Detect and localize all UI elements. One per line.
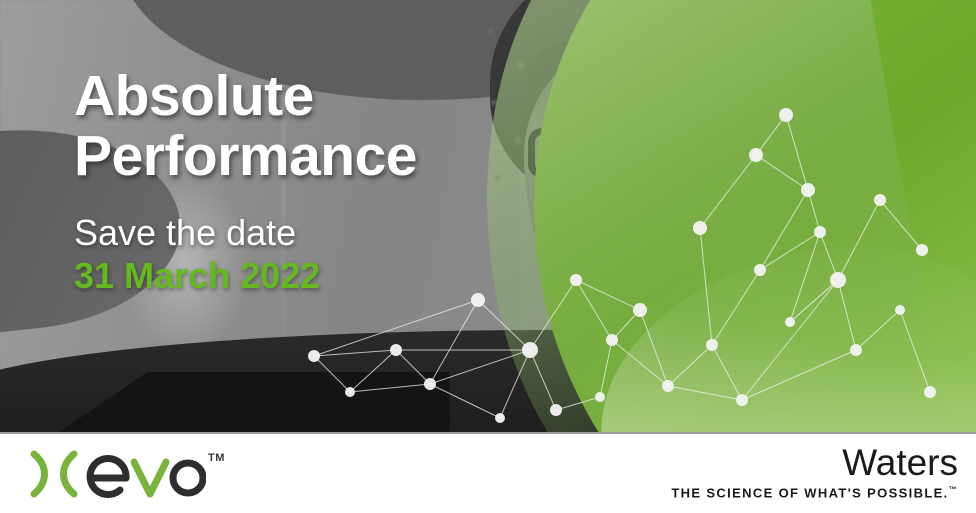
waters-tagline: THE SCIENCE OF WHAT'S POSSIBLE.™ [671, 485, 958, 500]
copy-block: Absolute Performance Save the date 31 Ma… [74, 66, 544, 296]
hero-image-area: Absolute Performance Save the date 31 Ma… [0, 0, 976, 432]
subheadline: Save the date [74, 213, 544, 253]
waters-trademark: ™ [949, 485, 958, 494]
event-date: 31 March 2022 [74, 256, 544, 296]
xevo-logo[interactable]: TM [28, 448, 225, 500]
waters-tagline-text: THE SCIENCE OF WHAT'S POSSIBLE. [671, 485, 948, 500]
xevo-trademark: TM [208, 452, 225, 464]
footer-bar: TM Waters THE SCIENCE OF WHAT'S POSSIBLE… [0, 432, 976, 513]
xevo-wordmark-icon [28, 448, 206, 500]
waters-logo[interactable]: Waters THE SCIENCE OF WHAT'S POSSIBLE.™ [671, 444, 958, 500]
marketing-banner: Absolute Performance Save the date 31 Ma… [0, 0, 976, 513]
waters-wordmark: Waters [671, 444, 958, 481]
headline-line-2: Performance [74, 126, 544, 186]
headline-line-1: Absolute [74, 66, 544, 126]
